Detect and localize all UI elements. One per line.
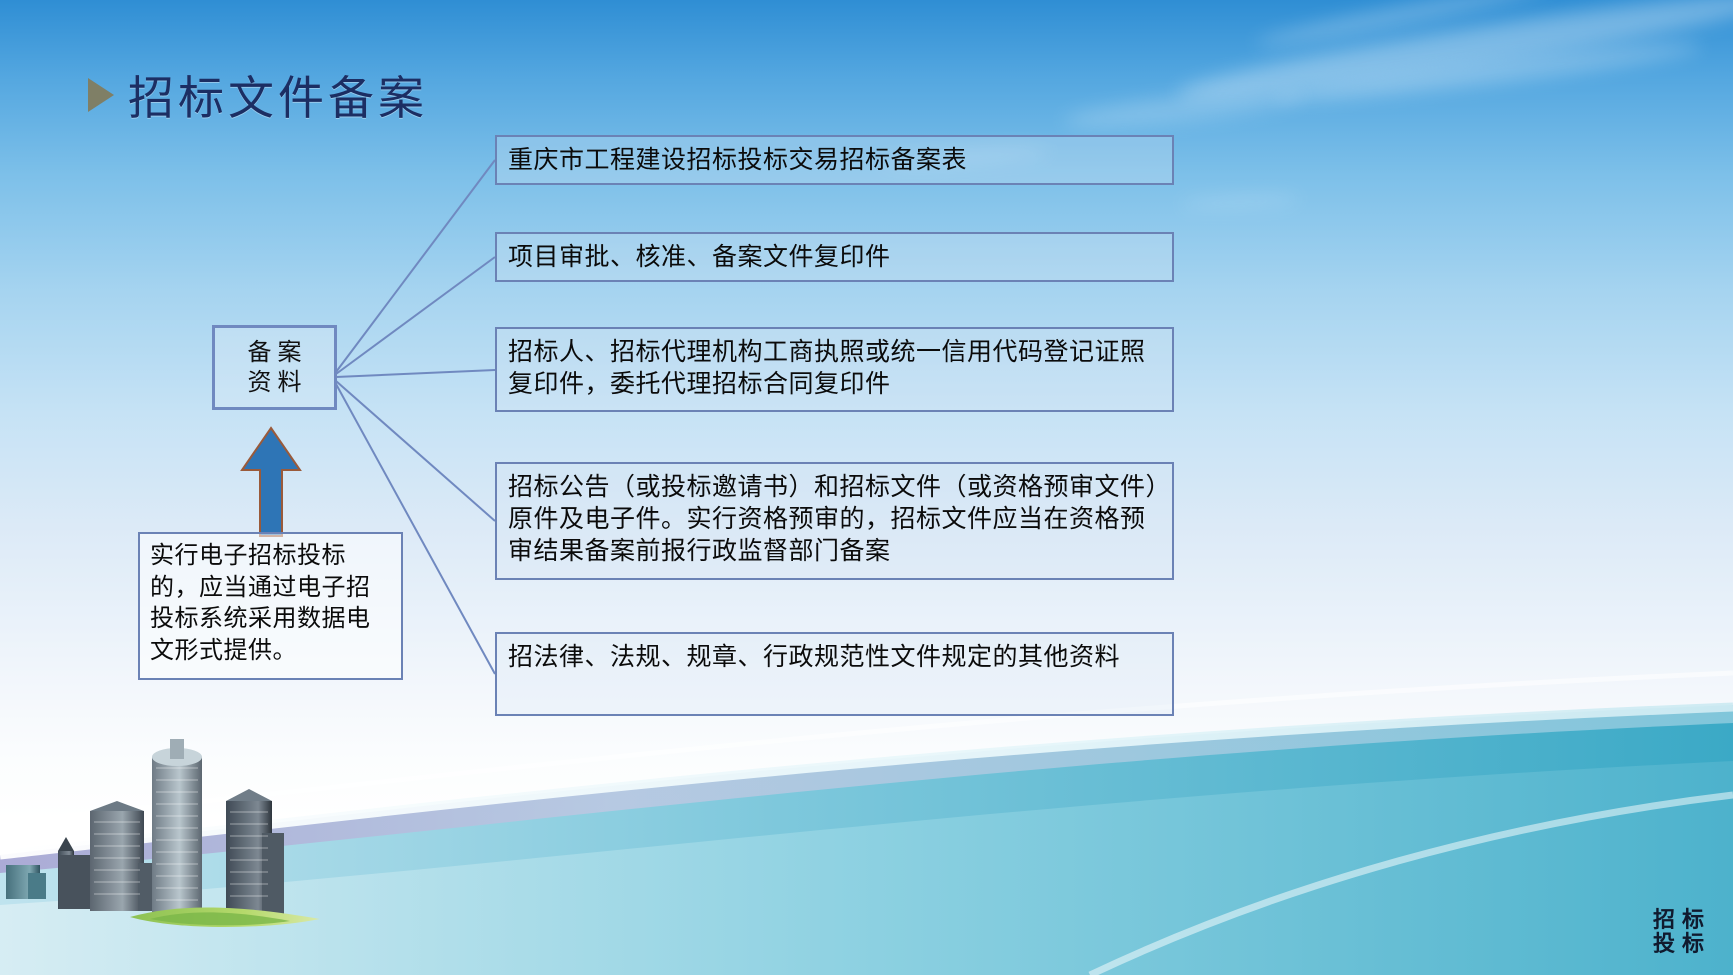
list-item[interactable]: 招标公告（或投标邀请书）和招标文件（或资格预审文件）原件及电子件。实行资格预审的… bbox=[495, 462, 1174, 580]
hub-node-filing-materials[interactable]: 备案 资料 bbox=[212, 325, 337, 410]
note-box-electronic-bidding[interactable]: 实行电子招标投标的，应当通过电子招投标系统采用数据电文形式提供。 bbox=[138, 532, 403, 680]
hub-label-line-1: 备案 bbox=[242, 338, 308, 367]
cloud-streak-icon bbox=[1062, 84, 1303, 135]
slide-canvas: 招标文件备案 备案 资料 重庆市工程建设招标投标交易招标备案表 项目审批、核准、… bbox=[0, 0, 1733, 975]
cloud-streak-icon bbox=[1180, 193, 1300, 211]
page-title: 招标文件备案 bbox=[88, 62, 428, 128]
cloud-streak-icon bbox=[1273, 36, 1702, 110]
triangle-right-icon bbox=[88, 78, 114, 112]
cloud-streak-icon bbox=[1174, 0, 1733, 112]
arrow-up-icon bbox=[242, 428, 300, 536]
corner-logo: 招标 投标 bbox=[1653, 908, 1711, 957]
list-item[interactable]: 招法律、法规、规章、行政规范性文件规定的其他资料 bbox=[495, 632, 1174, 716]
page-title-text: 招标文件备案 bbox=[128, 62, 428, 128]
list-item[interactable]: 重庆市工程建设招标投标交易招标备案表 bbox=[495, 135, 1174, 185]
corner-logo-line-2: 投标 bbox=[1653, 932, 1711, 957]
city-skyline-image bbox=[0, 705, 420, 945]
list-item[interactable]: 招标人、招标代理机构工商执照或统一信用代码登记证照复印件，委托代理招标合同复印件 bbox=[495, 327, 1174, 412]
hub-label-line-2: 资料 bbox=[242, 368, 308, 397]
cloud-streak-icon bbox=[1254, 0, 1552, 52]
list-item[interactable]: 项目审批、核准、备案文件复印件 bbox=[495, 232, 1174, 282]
corner-logo-line-1: 招标 bbox=[1653, 908, 1711, 933]
